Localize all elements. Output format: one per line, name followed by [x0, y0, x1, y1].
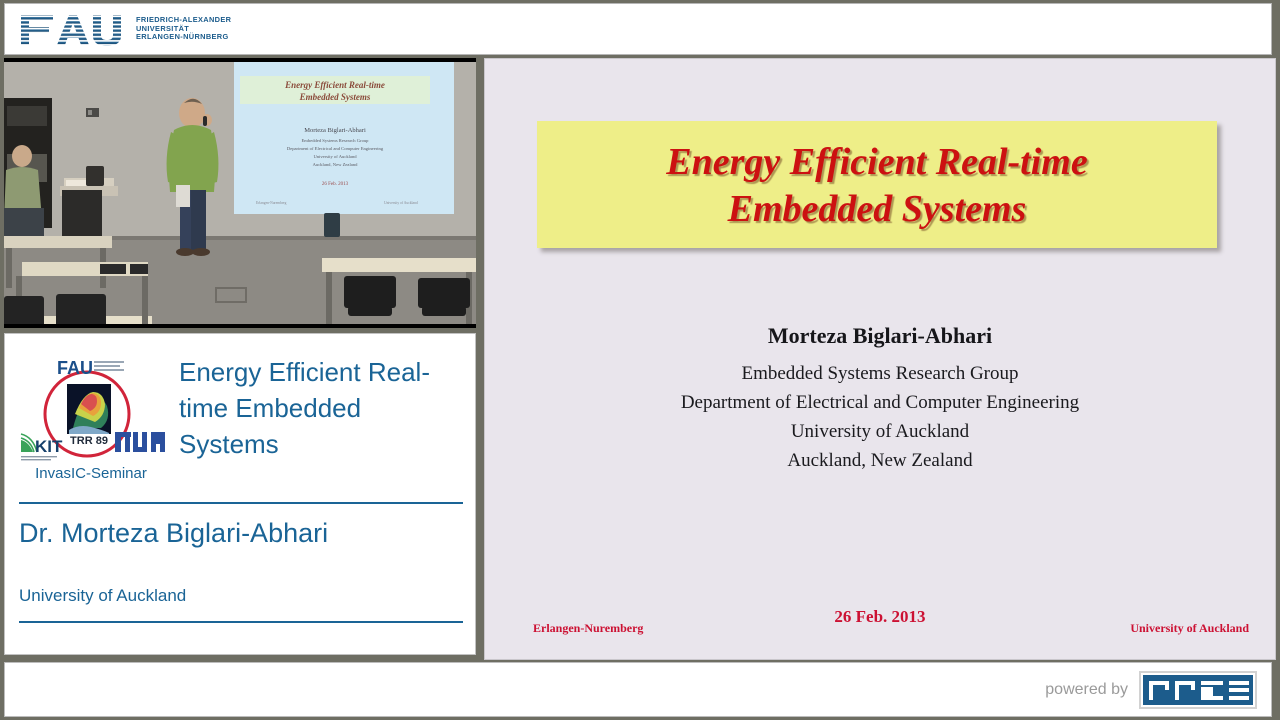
fau-logo-icon: [19, 13, 131, 47]
svg-text:KIT: KIT: [35, 437, 63, 456]
slide-title-box: Energy Efficient Real-time Embedded Syst…: [537, 121, 1217, 248]
lecture-info-panel: FAU KIT TRR 89: [4, 333, 476, 655]
powered-by-label: powered by: [1045, 681, 1128, 699]
slide-footer-left: Erlangen-Nuremberg: [533, 621, 643, 636]
slide-author: Morteza Biglari-Abhari: [485, 323, 1275, 349]
slide-viewer[interactable]: Energy Efficient Real-time Embedded Syst…: [484, 58, 1276, 660]
svg-text:Embedded Systems: Embedded Systems: [299, 92, 371, 102]
divider-top: [19, 502, 463, 504]
institution-name: FRIEDRICH-ALEXANDER UNIVERSITÄT ERLANGEN…: [136, 16, 231, 42]
svg-text:InvasIC-Seminar: InvasIC-Seminar: [35, 465, 147, 482]
slide-footer-right: University of Auckland: [1130, 621, 1249, 636]
slide-author-affiliation: Embedded Systems Research Group Departme…: [485, 359, 1275, 475]
svg-text:TRR 89: TRR 89: [70, 435, 108, 447]
site-footer: powered by: [4, 662, 1272, 717]
video-player[interactable]: ZE Energy Efficient Real-time Embedded S…: [4, 58, 476, 328]
svg-text:FAU: FAU: [57, 358, 93, 378]
svg-text:University of Auckland: University of Auckland: [384, 201, 418, 205]
svg-text:Erlangen-Nuremberg: Erlangen-Nuremberg: [256, 201, 287, 205]
svg-text:Energy Efficient Real-time: Energy Efficient Real-time: [284, 80, 385, 90]
svg-text:Department of Electrical and C: Department of Electrical and Computer En…: [287, 146, 384, 151]
slide-title: Energy Efficient Real-time Embedded Syst…: [537, 139, 1217, 233]
divider-bottom: [19, 621, 463, 623]
lecture-title: Energy Efficient Real-time Embedded Syst…: [179, 354, 467, 462]
svg-text:Embedded Systems Research Grou: Embedded Systems Research Group: [302, 138, 370, 143]
video-frame: ZE Energy Efficient Real-time Embedded S…: [4, 58, 476, 328]
lecture-affiliation: University of Auckland: [19, 586, 186, 606]
rrze-logo-icon[interactable]: [1139, 671, 1257, 709]
lecture-speaker: Dr. Morteza Biglari-Abhari: [19, 518, 328, 549]
lecture-player-page: FRIEDRICH-ALEXANDER UNIVERSITÄT ERLANGEN…: [0, 0, 1280, 720]
svg-text:Morteza Biglari-Abhari: Morteza Biglari-Abhari: [304, 127, 366, 134]
site-header: FRIEDRICH-ALEXANDER UNIVERSITÄT ERLANGEN…: [4, 3, 1272, 55]
invasic-seminar-logo-icon: FAU KIT TRR 89: [15, 352, 167, 484]
svg-text:26 Feb. 2013: 26 Feb. 2013: [322, 182, 349, 187]
svg-text:University of Auckland: University of Auckland: [313, 154, 357, 159]
